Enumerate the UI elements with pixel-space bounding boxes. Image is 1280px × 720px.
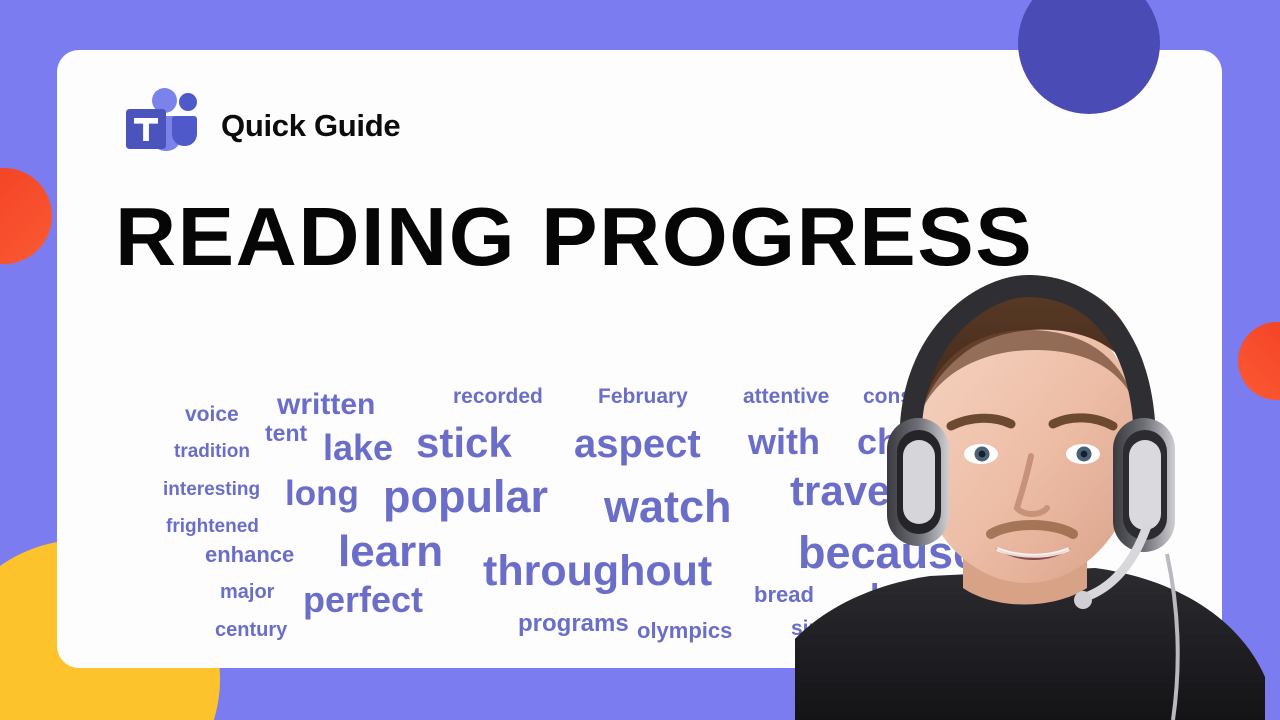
word-cloud-item: written xyxy=(277,390,375,420)
word-cloud-item: long xyxy=(285,476,359,511)
microsoft-teams-logo-icon xyxy=(119,88,203,164)
word-cloud-item: children xyxy=(857,424,997,460)
word-cloud-item: co xyxy=(952,470,1001,512)
word-cloud-item: travel xyxy=(790,470,902,512)
word-cloud-item: lake xyxy=(323,430,393,466)
word-cloud-item: bread xyxy=(754,584,814,606)
word-cloud-item: singer xyxy=(791,618,854,639)
word-cloud-item: popular xyxy=(383,474,548,519)
word-cloud-item: olympics xyxy=(637,620,732,642)
word-cloud-item: voice xyxy=(185,404,239,425)
word-cloud-item: major xyxy=(220,582,274,602)
word-cloud-item: stick xyxy=(416,422,512,464)
word-cloud-item: learn xyxy=(338,530,443,574)
word-cloud-item: strawberries xyxy=(873,630,986,649)
word-cloud-item: century xyxy=(215,620,287,640)
word-cloud-item: throughout xyxy=(483,550,712,593)
word-cloud-item: programs xyxy=(518,612,629,636)
word-cloud-item: interesting xyxy=(163,480,260,499)
content-card: Quick Guide READING PROGRESS voicewritte… xyxy=(57,50,1222,668)
word-cloud-item: because xyxy=(798,530,978,575)
word-cloud-item: perfect xyxy=(303,582,423,618)
word-cloud-item: with xyxy=(748,424,820,460)
word-cloud-item: conspicuous xyxy=(863,386,993,407)
brand-row: Quick Guide xyxy=(119,88,400,164)
word-cloud-item: attentive xyxy=(743,386,829,407)
word-cloud-item: frightened xyxy=(166,517,259,536)
word-cloud-item: aspect xyxy=(574,424,701,464)
page-title: READING PROGRESS xyxy=(115,195,1033,278)
word-cloud-item: tradition xyxy=(174,442,250,461)
word-cloud-item: February xyxy=(598,386,688,407)
word-cloud-item: m xyxy=(1007,590,1037,624)
brand-title: Quick Guide xyxy=(221,108,400,144)
word-cloud-item: watch xyxy=(604,484,732,529)
word-cloud-item: recorded xyxy=(453,386,543,407)
word-cloud-item: enhance xyxy=(205,544,294,566)
word-cloud-item: tent xyxy=(265,422,307,445)
decor-circle-orange-right xyxy=(1238,322,1280,400)
decor-circle-orange-left xyxy=(0,168,52,264)
word-cloud-item: bought xyxy=(870,580,985,614)
slide-canvas: Quick Guide READING PROGRESS voicewritte… xyxy=(0,0,1280,720)
word-cloud: voicewrittenrecordedFebruaryattentivecon… xyxy=(57,312,1222,668)
